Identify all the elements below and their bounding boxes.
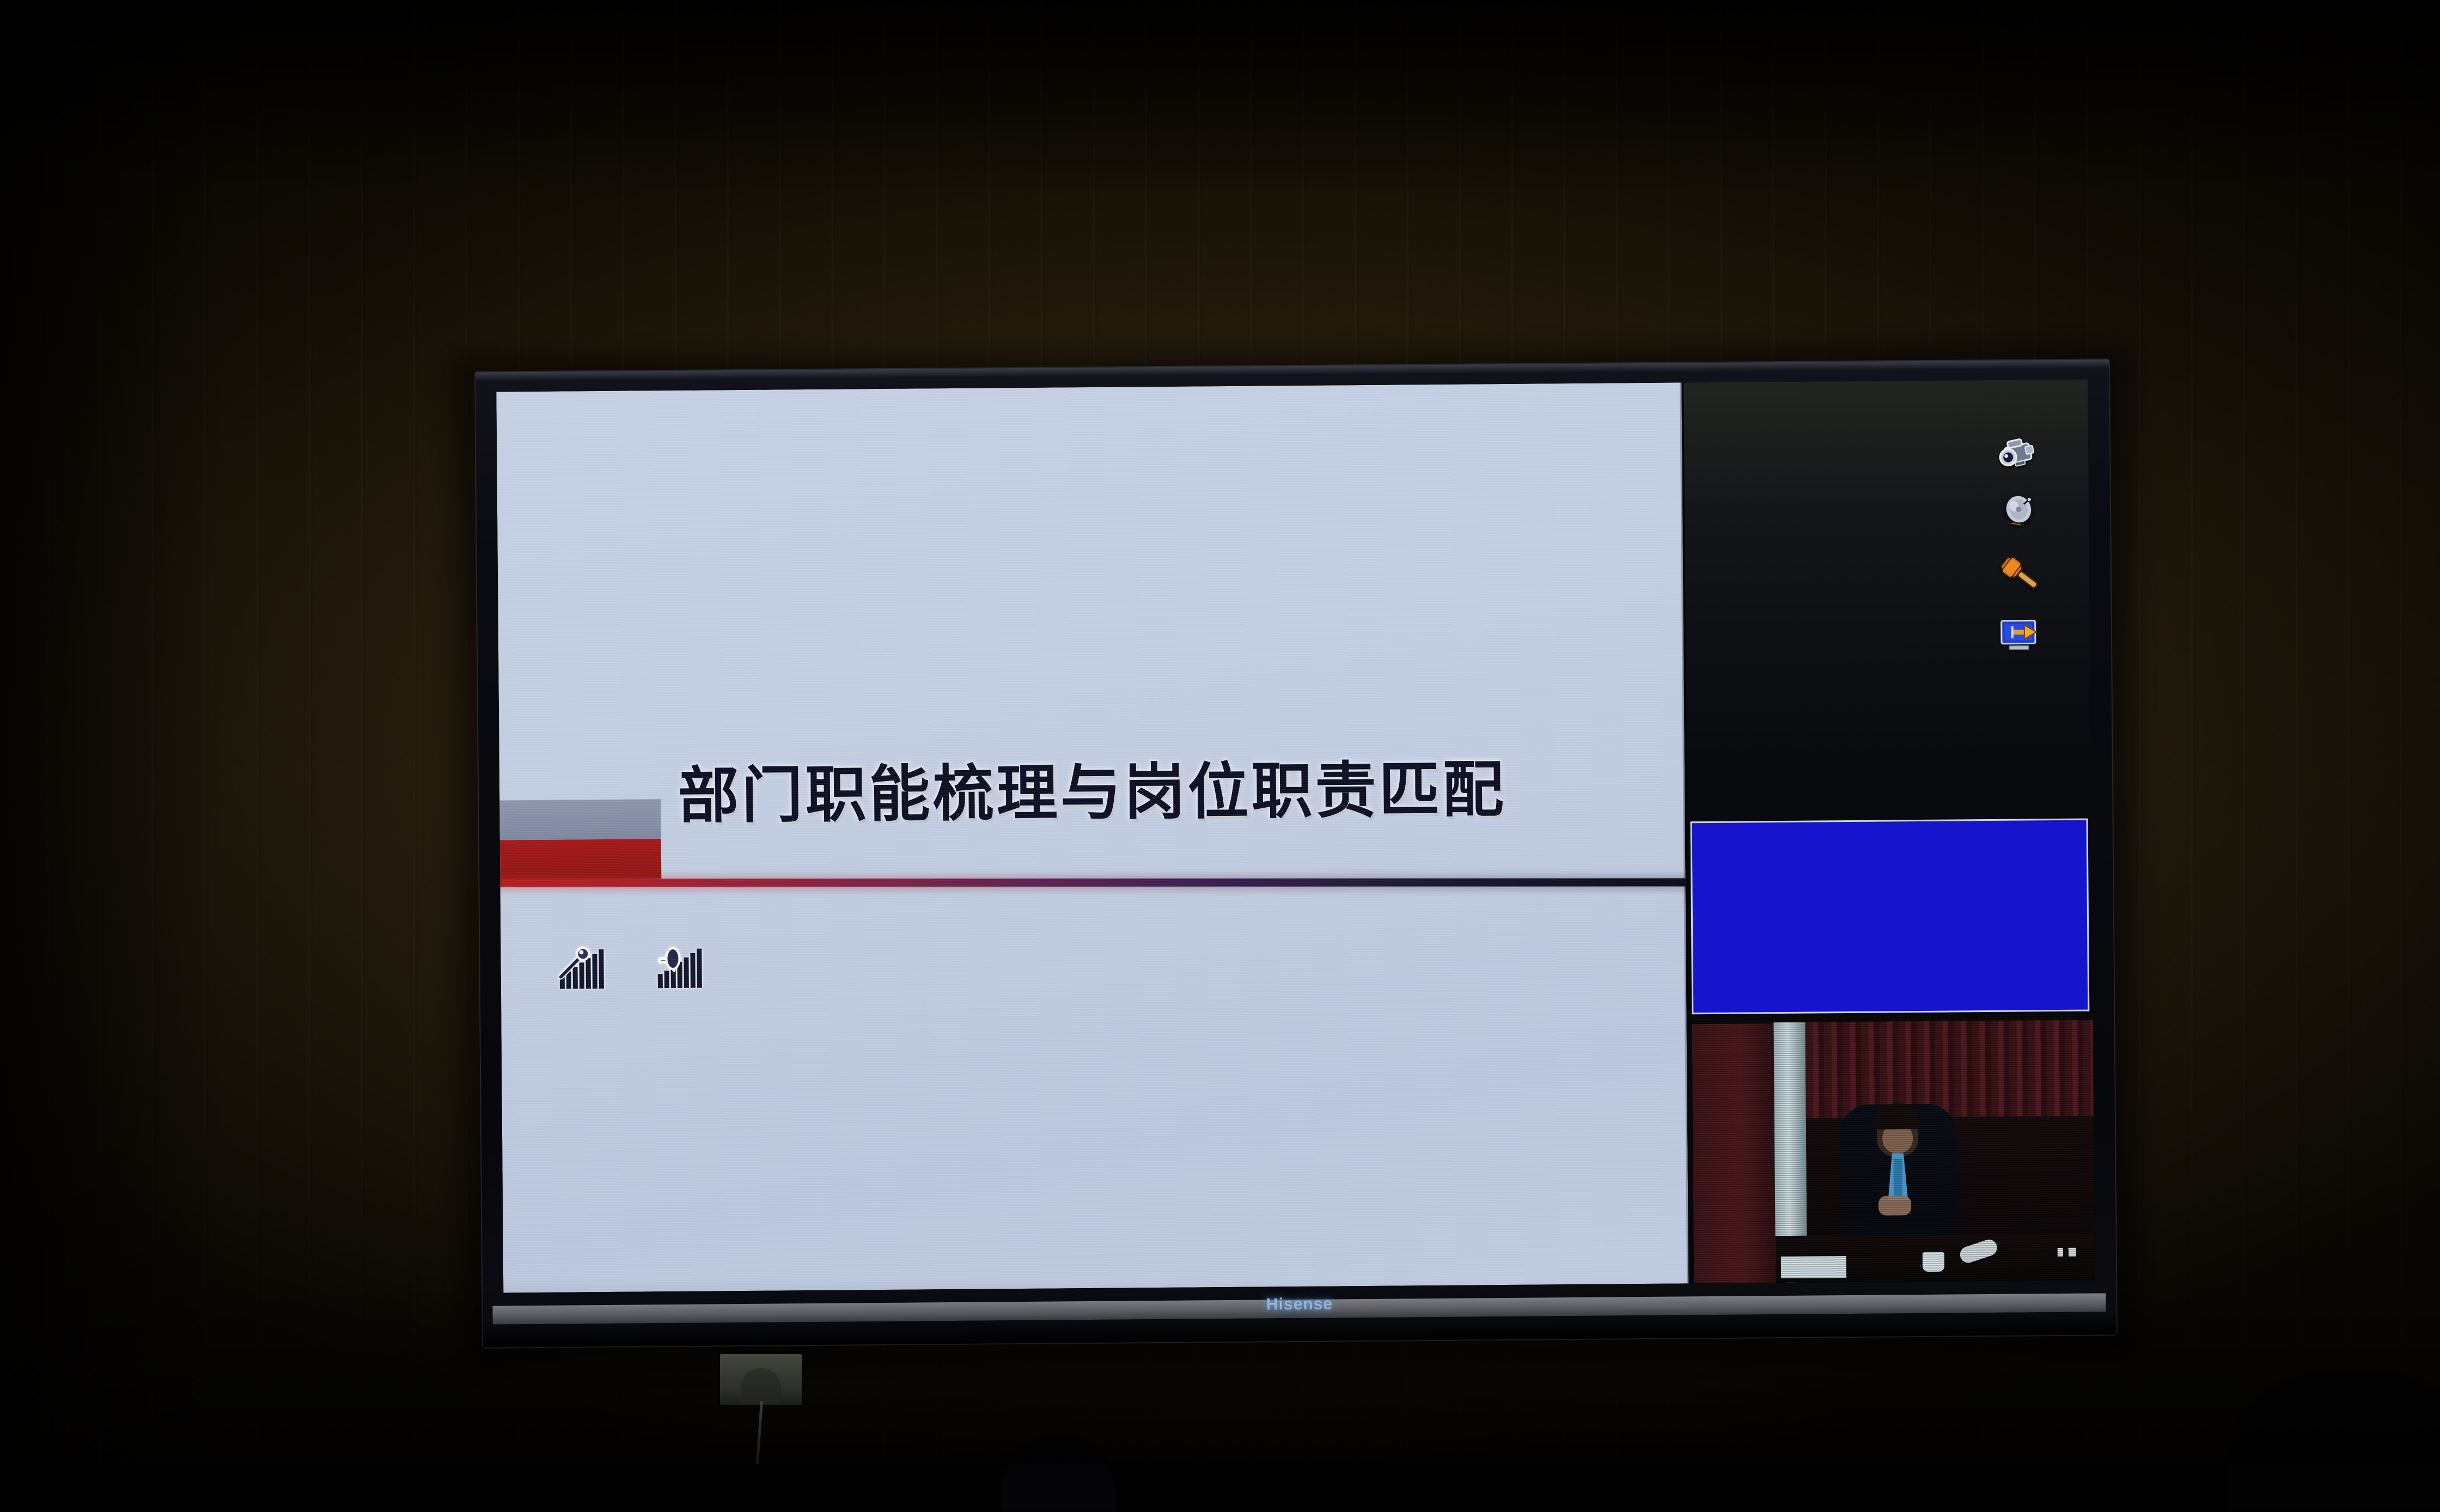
foreground-shadow	[0, 1279, 2440, 1464]
gavel-icon[interactable]	[1996, 552, 2043, 596]
speaker-level-meter-icon[interactable]	[656, 942, 711, 989]
video-camera-icon[interactable]	[1994, 432, 2042, 476]
tv-screen[interactable]: 部门职能梳理与岗位职责匹配	[496, 380, 2095, 1293]
panel-icon-list	[1994, 432, 2043, 656]
wall-left-shadow	[0, 0, 229, 1464]
slide-audio-icons	[558, 942, 711, 990]
screen-noise-overlay	[496, 382, 1688, 1292]
video-feed-pane[interactable]	[1692, 1015, 2095, 1284]
exit-screen-icon[interactable]	[1996, 612, 2043, 656]
slide-divider-line	[500, 878, 1685, 887]
slide-divider	[500, 862, 1685, 904]
blue-status-pane[interactable]	[1691, 819, 2090, 1015]
presentation-slide[interactable]: 部门职能梳理与岗位职责匹配	[496, 382, 1688, 1292]
satellite-dish-icon[interactable]	[1995, 492, 2042, 536]
television: 部门职能梳理与岗位职责匹配	[475, 359, 2116, 1347]
slide-title: 部门职能梳理与岗位职责匹配	[499, 739, 1685, 836]
video-scanline-overlay	[1692, 1015, 2095, 1284]
microphone-level-meter-icon[interactable]	[558, 943, 613, 990]
wall-top-shadow	[0, 0, 2440, 196]
